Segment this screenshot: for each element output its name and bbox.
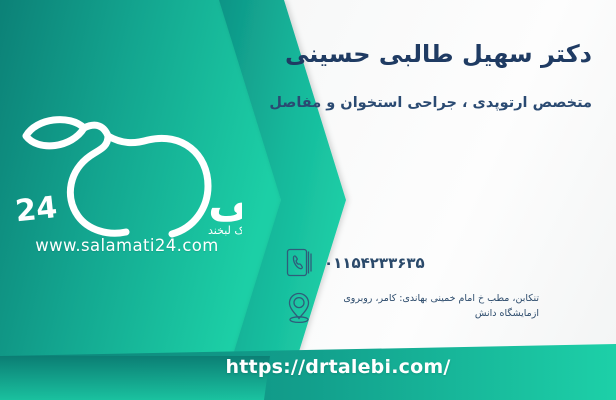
logo-website-url[interactable]: www.salamati24.com xyxy=(12,236,242,255)
svg-text:سلامتی: سلامتی xyxy=(208,173,242,227)
map-pin-icon xyxy=(284,290,314,324)
website-url[interactable]: https://drtalebi.com/ xyxy=(0,356,616,378)
phonebook-icon xyxy=(284,246,314,280)
brand-logo: 24 سلامتی به راحتی یک لبخند www.salamati… xyxy=(12,104,242,280)
phone-number: ۰۱۱۵۴۲۳۳۶۳۵ xyxy=(314,254,425,272)
business-card: 24 سلامتی به راحتی یک لبخند www.salamati… xyxy=(0,0,616,400)
contact-block: ۰۱۱۵۴۲۳۳۶۳۵ تنکابن، مطب خ امام خمینی بها… xyxy=(284,246,594,334)
contact-row-phone[interactable]: ۰۱۱۵۴۲۳۳۶۳۵ xyxy=(284,246,594,280)
clinic-address: تنکابن، مطب خ امام خمینی بهاندی: کامر، ر… xyxy=(314,292,539,321)
page-title: دکتر سهیل طالبی حسینی xyxy=(285,40,592,68)
doctor-specialty: متخصص ارتوپدی ، جراحی استخوان و مفاصل xyxy=(269,95,592,111)
svg-text:24: 24 xyxy=(14,190,59,229)
logo-brand-word: سلامتی xyxy=(208,173,242,227)
apple-outline-icon: 24 سلامتی به راحتی یک لبخند xyxy=(12,104,242,240)
logo-badge-24: 24 xyxy=(14,190,59,229)
contact-row-address[interactable]: تنکابن، مطب خ امام خمینی بهاندی: کامر، ر… xyxy=(284,290,594,324)
